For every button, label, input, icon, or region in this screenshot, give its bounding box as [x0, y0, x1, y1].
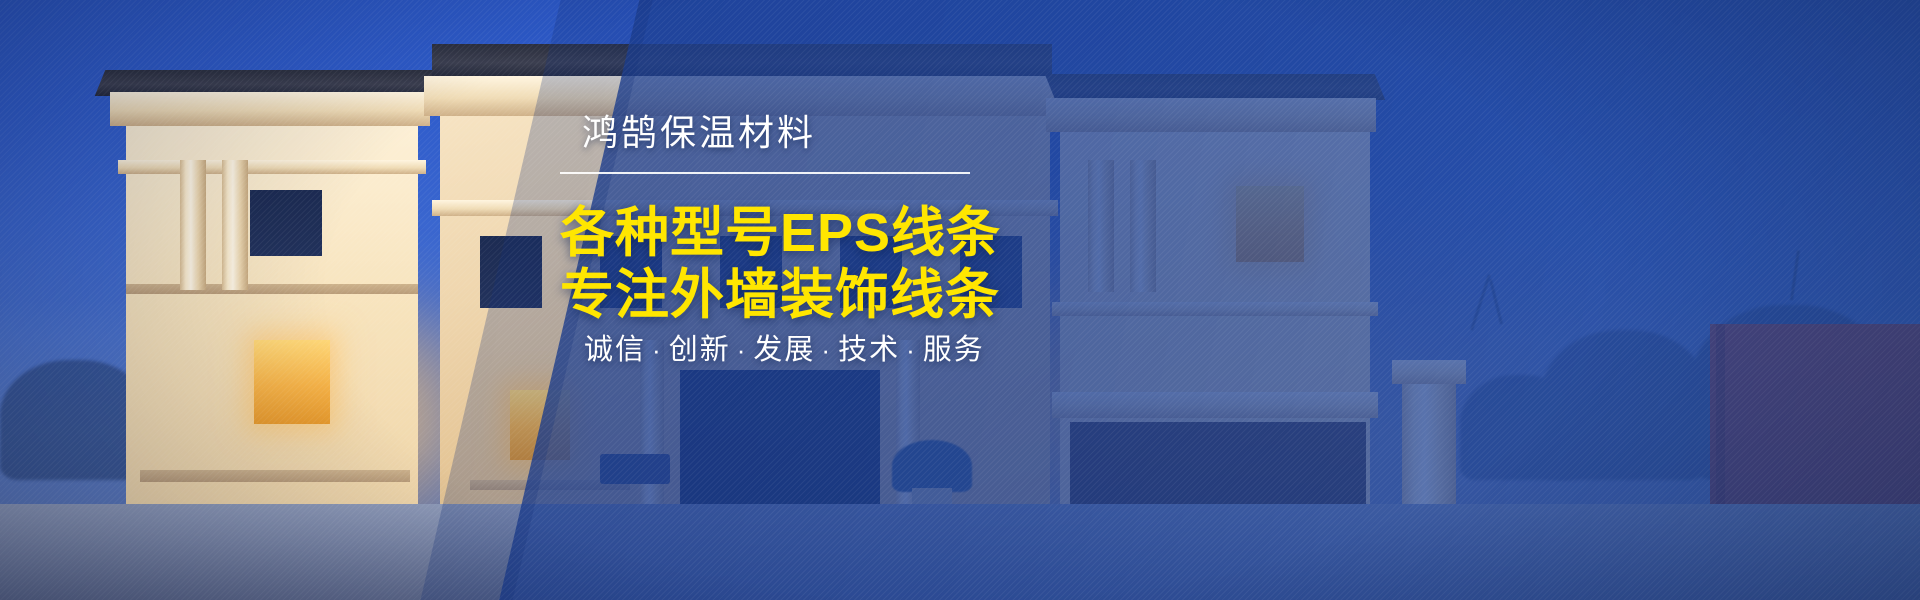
brand-name: 鸿鹄保温材料 [582, 104, 816, 156]
promo-banner: 鸿鹄保温材料 各种型号EPS线条 专注外墙装饰线条 诚信·创新·发展·技术·服务 [0, 0, 1920, 600]
headline-line-2: 专注外墙装饰线条 [560, 250, 1000, 329]
divider-rule [560, 172, 970, 174]
tagline-separator: · [646, 335, 669, 365]
tagline: 诚信·创新·发展·技术·服务 [584, 326, 985, 368]
tagline-separator: · [815, 335, 838, 365]
tagline-separator: · [900, 335, 923, 365]
tagline-item: 服务 [923, 334, 985, 366]
tagline-separator: · [731, 335, 754, 365]
tagline-item: 诚信 [584, 334, 646, 366]
tagline-item: 发展 [753, 334, 815, 366]
tagline-item: 创新 [669, 334, 731, 366]
tagline-item: 技术 [838, 334, 900, 366]
banner-copy-block: 鸿鹄保温材料 各种型号EPS线条 专注外墙装饰线条 诚信·创新·发展·技术·服务 [560, 0, 1030, 600]
